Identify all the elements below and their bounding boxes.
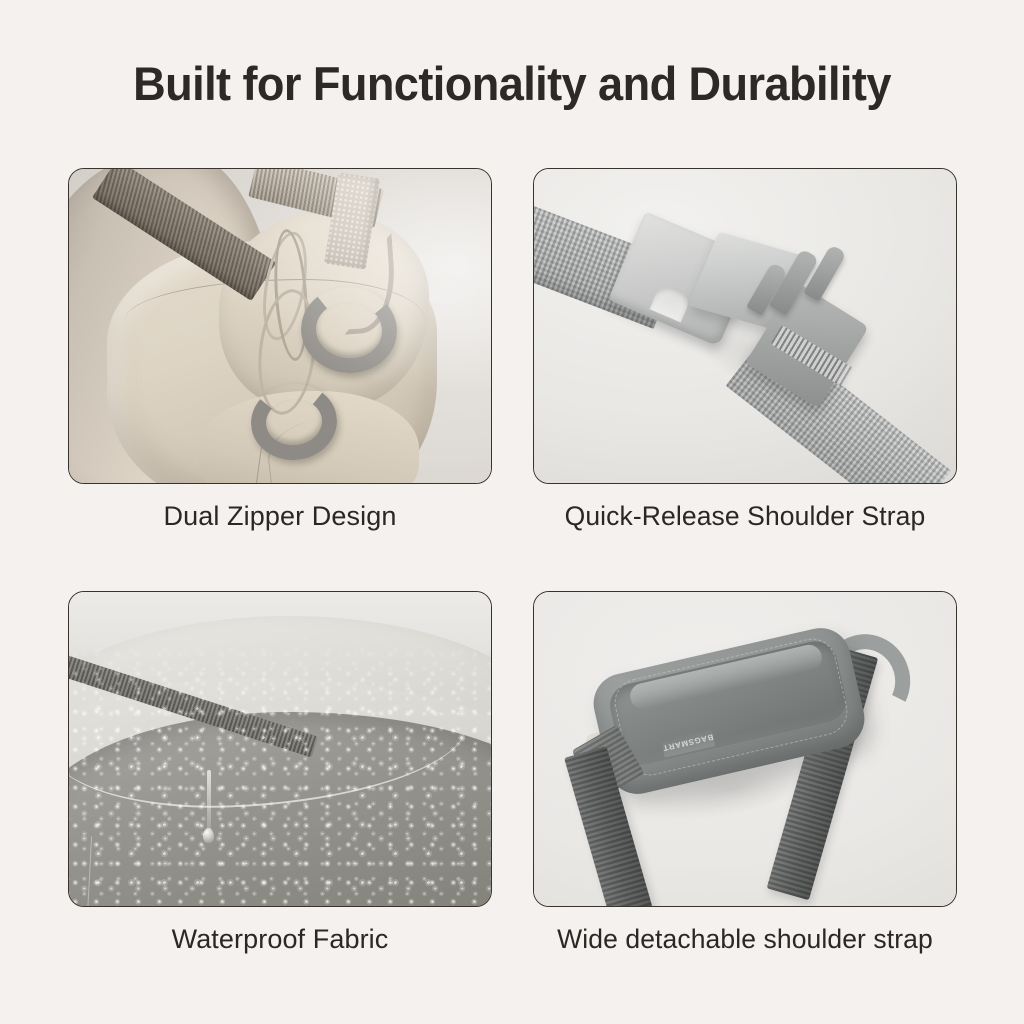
feature-image-dual-zipper-design: [68, 168, 492, 484]
feature-card-dual-zipper-design: Dual Zipper Design: [68, 168, 492, 532]
feature-image-waterproof-fabric: [68, 591, 492, 907]
feature-card-waterproof-fabric: Waterproof Fabric: [68, 591, 492, 955]
studio-glare: [69, 169, 491, 483]
water-drip-trail: [207, 770, 211, 832]
feature-caption-wide-detachable-shoulder-strap: Wide detachable shoulder strap: [533, 924, 957, 955]
shoulder-strap-scene: BAGSMART: [534, 592, 956, 906]
feature-image-wide-detachable-shoulder-strap: BAGSMART: [533, 591, 957, 907]
water-drip-bead: [203, 828, 214, 843]
water-droplets-icon: [69, 592, 491, 906]
infographic-page: Built for Functionality and Durability: [0, 0, 1024, 1024]
dual-zipper-scene: [69, 169, 491, 483]
feature-caption-dual-zipper-design: Dual Zipper Design: [68, 501, 492, 532]
feature-caption-quick-release-shoulder-strap: Quick-Release Shoulder Strap: [533, 501, 957, 532]
page-title: Built for Functionality and Durability: [20, 56, 1003, 111]
waterproof-fabric-scene: [69, 592, 491, 906]
feature-grid: Dual Zipper Design: [68, 168, 957, 968]
feature-image-quick-release-shoulder-strap: [533, 168, 957, 484]
quick-release-scene: [534, 169, 956, 483]
feature-card-quick-release-shoulder-strap: Quick-Release Shoulder Strap: [533, 168, 957, 532]
feature-caption-waterproof-fabric: Waterproof Fabric: [68, 924, 492, 955]
feature-card-wide-detachable-shoulder-strap: BAGSMART Wide detachable shoulder strap: [533, 591, 957, 955]
